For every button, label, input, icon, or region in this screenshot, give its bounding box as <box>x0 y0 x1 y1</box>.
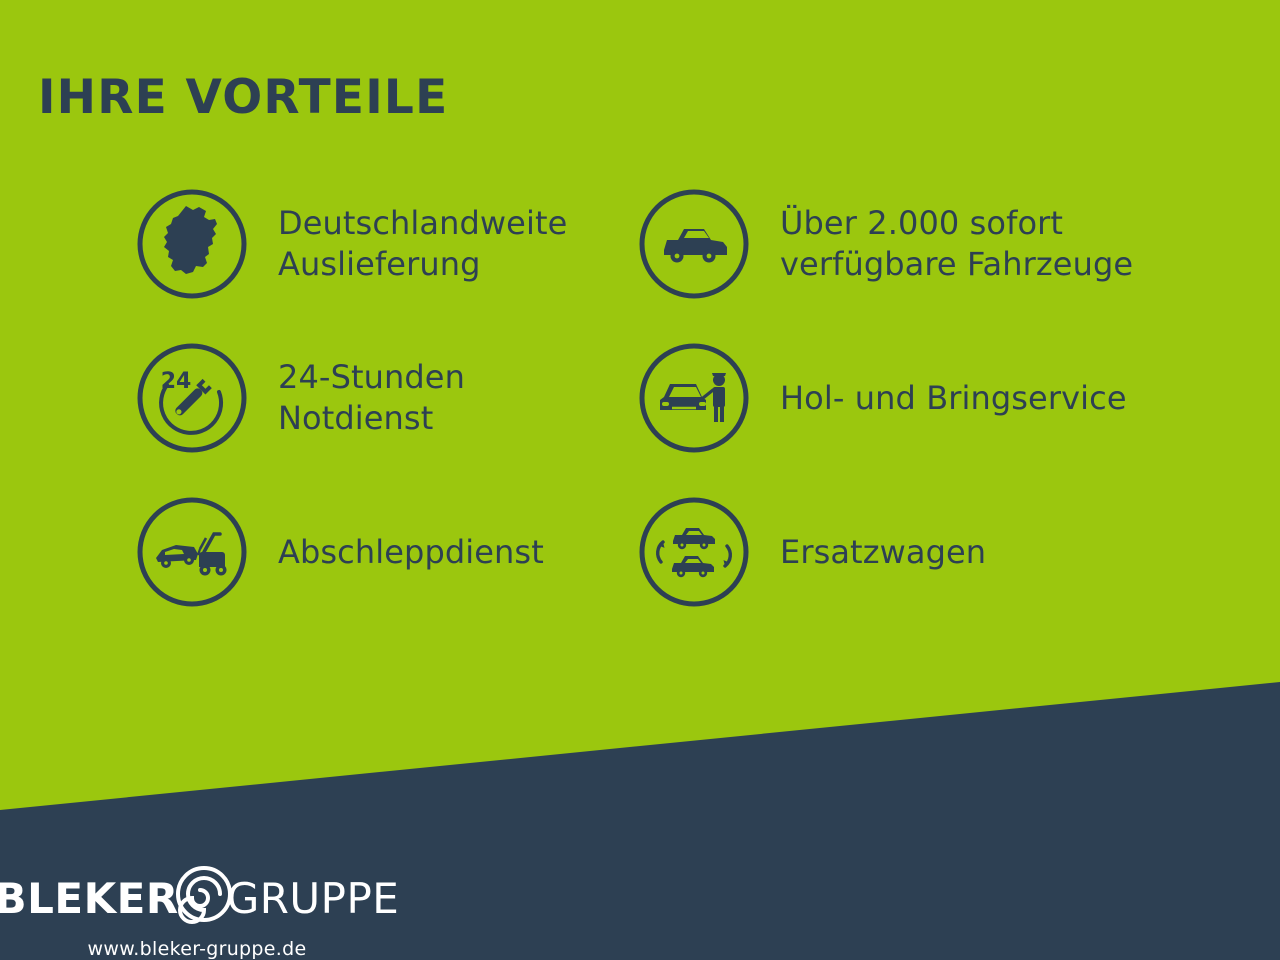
24-hours-wrench-icon: 24 <box>134 340 250 456</box>
slide-root: IHRE VORTEILE Deutschlandweite Ausliefer… <box>0 0 1280 960</box>
benefit-label: Über 2.000 sofort verfügbare Fahrzeuge <box>780 203 1133 285</box>
benefit-label: Hol- und Bringservice <box>780 378 1127 419</box>
two-cars-exchange-icon <box>636 494 752 610</box>
tow-truck-icon <box>134 494 250 610</box>
brand-logo[interactable]: BLEKER GRUPPE www.bleker-gruppe.de <box>32 868 362 960</box>
benefit-item-hol-und-bringservice[interactable]: Hol- und Bringservice <box>636 340 1196 456</box>
benefit-item-24-stunden-notdienst[interactable]: 24 24-Stunden Notdienst <box>134 340 654 456</box>
car-with-person-icon <box>636 340 752 456</box>
hours-badge-text: 24 <box>161 369 192 394</box>
page-title: IHRE VORTEILE <box>38 74 448 121</box>
benefit-label: Deutschlandweite Auslieferung <box>278 203 567 285</box>
benefit-item-deutschlandweite-auslieferung[interactable]: Deutschlandweite Auslieferung <box>134 186 654 302</box>
logo-word-gruppe: GRUPPE <box>227 878 400 920</box>
benefit-item-abschleppdienst[interactable]: Abschleppdienst <box>134 494 654 610</box>
benefit-label: 24-Stunden Notdienst <box>278 357 465 439</box>
benefit-label: Abschleppdienst <box>278 532 544 573</box>
logo-url[interactable]: www.bleker-gruppe.de <box>88 938 307 960</box>
benefit-item-verfuegbare-fahrzeuge[interactable]: Über 2.000 sofort verfügbare Fahrzeuge <box>636 186 1196 302</box>
spiral-circle-logo-mark-icon <box>173 863 235 925</box>
logo-wordmark-row: BLEKER GRUPPE <box>0 868 399 930</box>
benefit-item-ersatzwagen[interactable]: Ersatzwagen <box>636 494 1196 610</box>
benefits-left-column: Deutschlandweite Auslieferung 24 <box>134 186 654 648</box>
germany-map-icon <box>134 186 250 302</box>
logo-word-bleker: BLEKER <box>0 878 179 920</box>
benefits-right-column: Über 2.000 sofort verfügbare Fahrzeuge <box>636 186 1196 648</box>
car-icon <box>636 186 752 302</box>
benefit-label: Ersatzwagen <box>780 532 986 573</box>
